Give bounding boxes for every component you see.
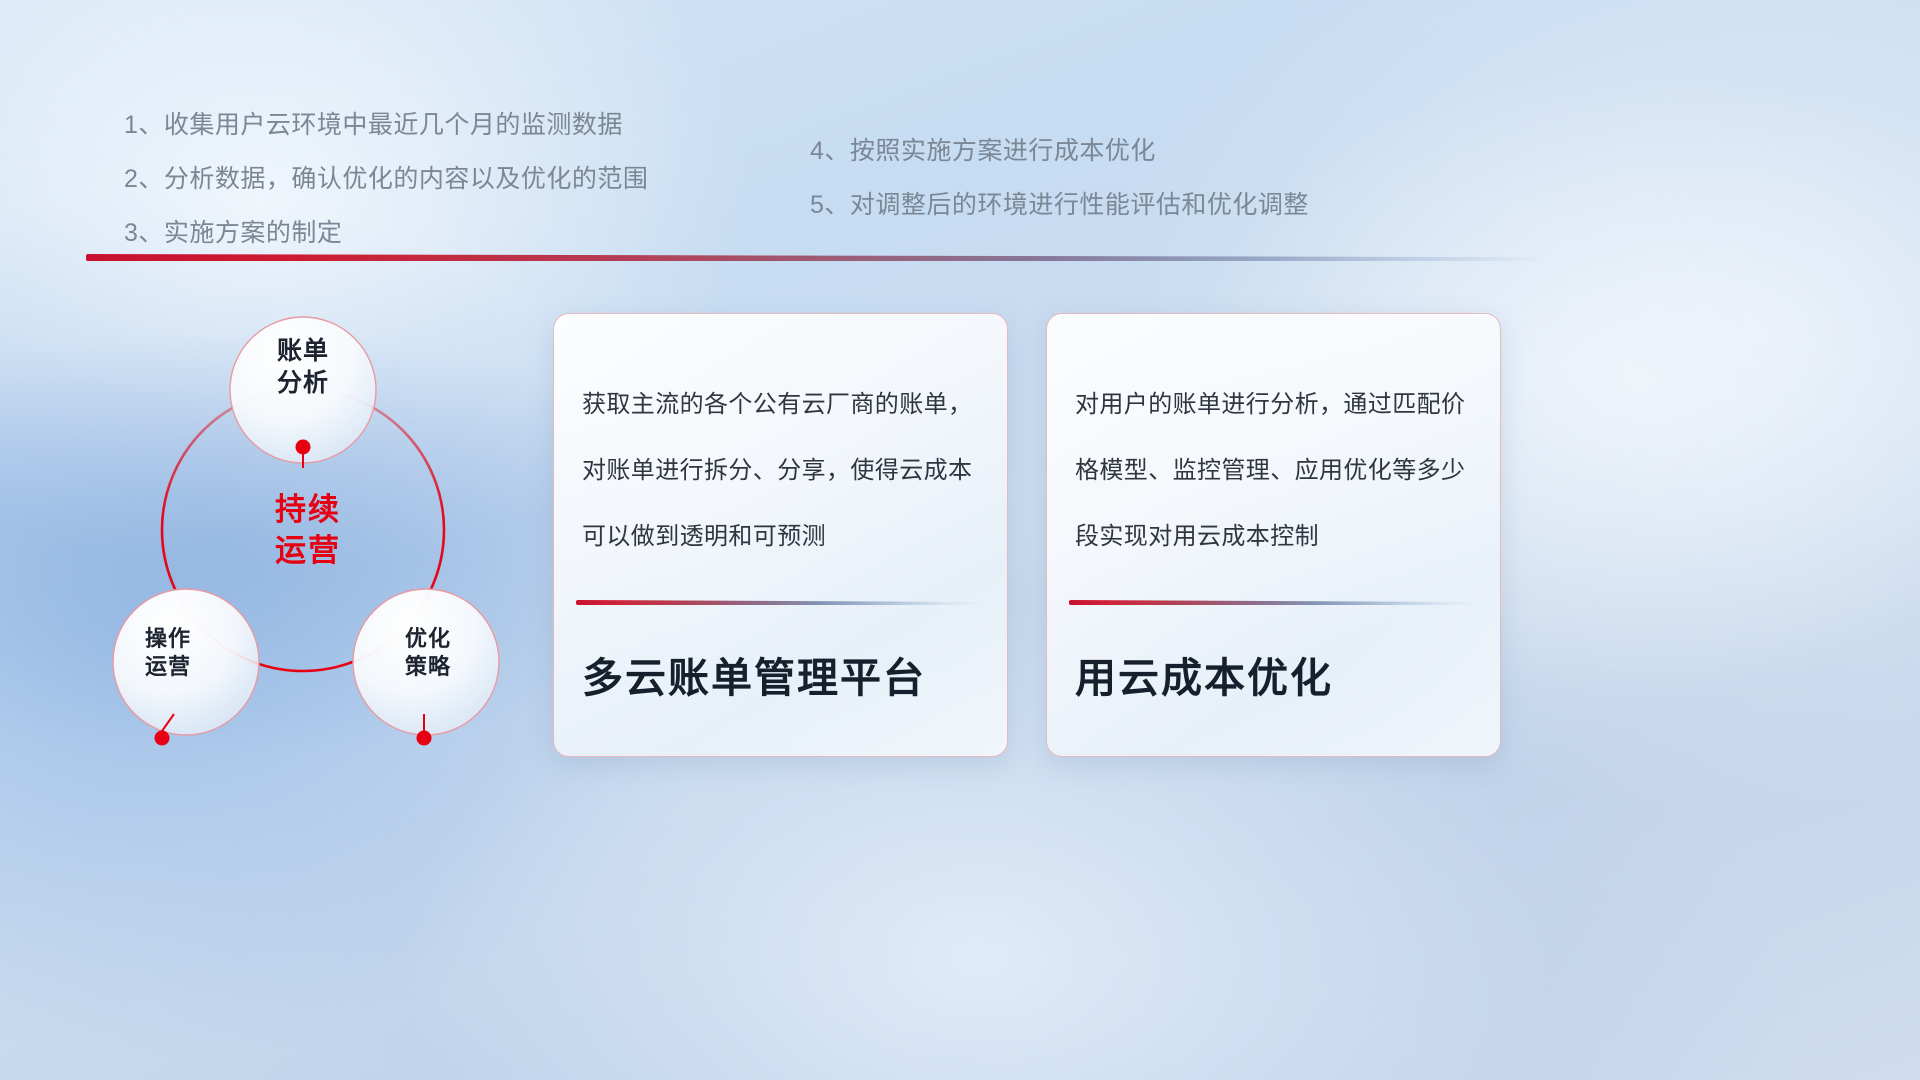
diagram-dot-left: [155, 731, 170, 746]
continuous-operation-diagram: 账单 分析 操作 运营 优化 策略 持续 运营: [78, 290, 548, 770]
diagram-dot-right: [417, 731, 432, 746]
card-body-text: 对用户的账单进行分析，通过匹配价格模型、监控管理、应用优化等多少段实现对用云成本…: [1075, 372, 1476, 570]
card-divider: [576, 600, 985, 605]
card-title: 用云成本优化: [1075, 644, 1480, 704]
step-list-right: 4、按照实施方案进行成本优化 5、对调整后的环境进行性能评估和优化调整: [810, 124, 1309, 232]
card-body-text: 获取主流的各个公有云厂商的账单，对账单进行拆分、分享，使得云成本可以做到透明和可…: [582, 372, 983, 570]
diagram-dot-top: [296, 440, 311, 455]
card-cloud-cost-optimization[interactable]: 对用户的账单进行分析，通过匹配价格模型、监控管理、应用优化等多少段实现对用云成本…: [1046, 313, 1501, 757]
step-list-left: 1、收集用户云环境中最近几个月的监测数据 2、分析数据，确认优化的内容以及优化的…: [124, 98, 648, 260]
step-item-2: 2、分析数据，确认优化的内容以及优化的范围: [124, 152, 648, 206]
diagram-label-operation: 操作 运营: [108, 625, 228, 681]
step-item-3: 3、实施方案的制定: [124, 206, 648, 260]
card-multi-cloud-billing-platform[interactable]: 获取主流的各个公有云厂商的账单，对账单进行拆分、分享，使得云成本可以做到透明和可…: [553, 313, 1008, 757]
card-divider: [1069, 600, 1478, 605]
step-item-1: 1、收集用户云环境中最近几个月的监测数据: [124, 98, 648, 152]
step-item-4: 4、按照实施方案进行成本优化: [810, 124, 1309, 178]
diagram-label-billing-analysis: 账单 分析: [238, 335, 368, 399]
diagram-label-optimization-strategy: 优化 策略: [368, 625, 488, 681]
step-item-5: 5、对调整后的环境进行性能评估和优化调整: [810, 178, 1309, 232]
card-title: 多云账单管理平台: [582, 644, 987, 704]
diagram-label-center: 持续 运营: [228, 490, 388, 572]
